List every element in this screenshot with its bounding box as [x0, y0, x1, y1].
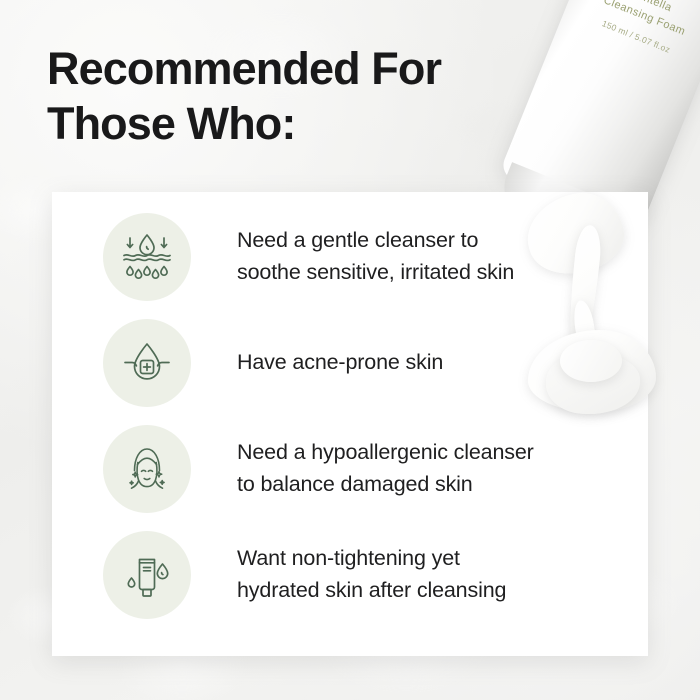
- list-item: Want non-tightening yet hydrated skin af…: [103, 531, 506, 619]
- glowing-face-icon: [103, 425, 191, 513]
- list-item-label: Need a hypoallergenic cleanser to balanc…: [237, 437, 534, 500]
- page-title: Recommended For Those Who:: [47, 41, 517, 152]
- acne-care-droplet-icon: [103, 319, 191, 407]
- list-item-label: Need a gentle cleanser to soothe sensiti…: [237, 225, 514, 288]
- tube-label: Centella Cleansing Foam 150 ml / 5.07 fl…: [563, 0, 700, 72]
- benefits-card: Need a gentle cleanser to soothe sensiti…: [52, 192, 648, 656]
- list-item: Need a gentle cleanser to soothe sensiti…: [103, 213, 514, 301]
- list-item-label: Want non-tightening yet hydrated skin af…: [237, 543, 506, 606]
- list-item: Have acne-prone skin: [103, 319, 443, 407]
- list-item: Need a hypoallergenic cleanser to balanc…: [103, 425, 534, 513]
- promo-graphic: Centella Cleansing Foam 150 ml / 5.07 fl…: [0, 0, 700, 700]
- cleanser-tube-icon: [103, 531, 191, 619]
- list-item-label: Have acne-prone skin: [237, 347, 443, 379]
- skin-absorption-icon: [103, 213, 191, 301]
